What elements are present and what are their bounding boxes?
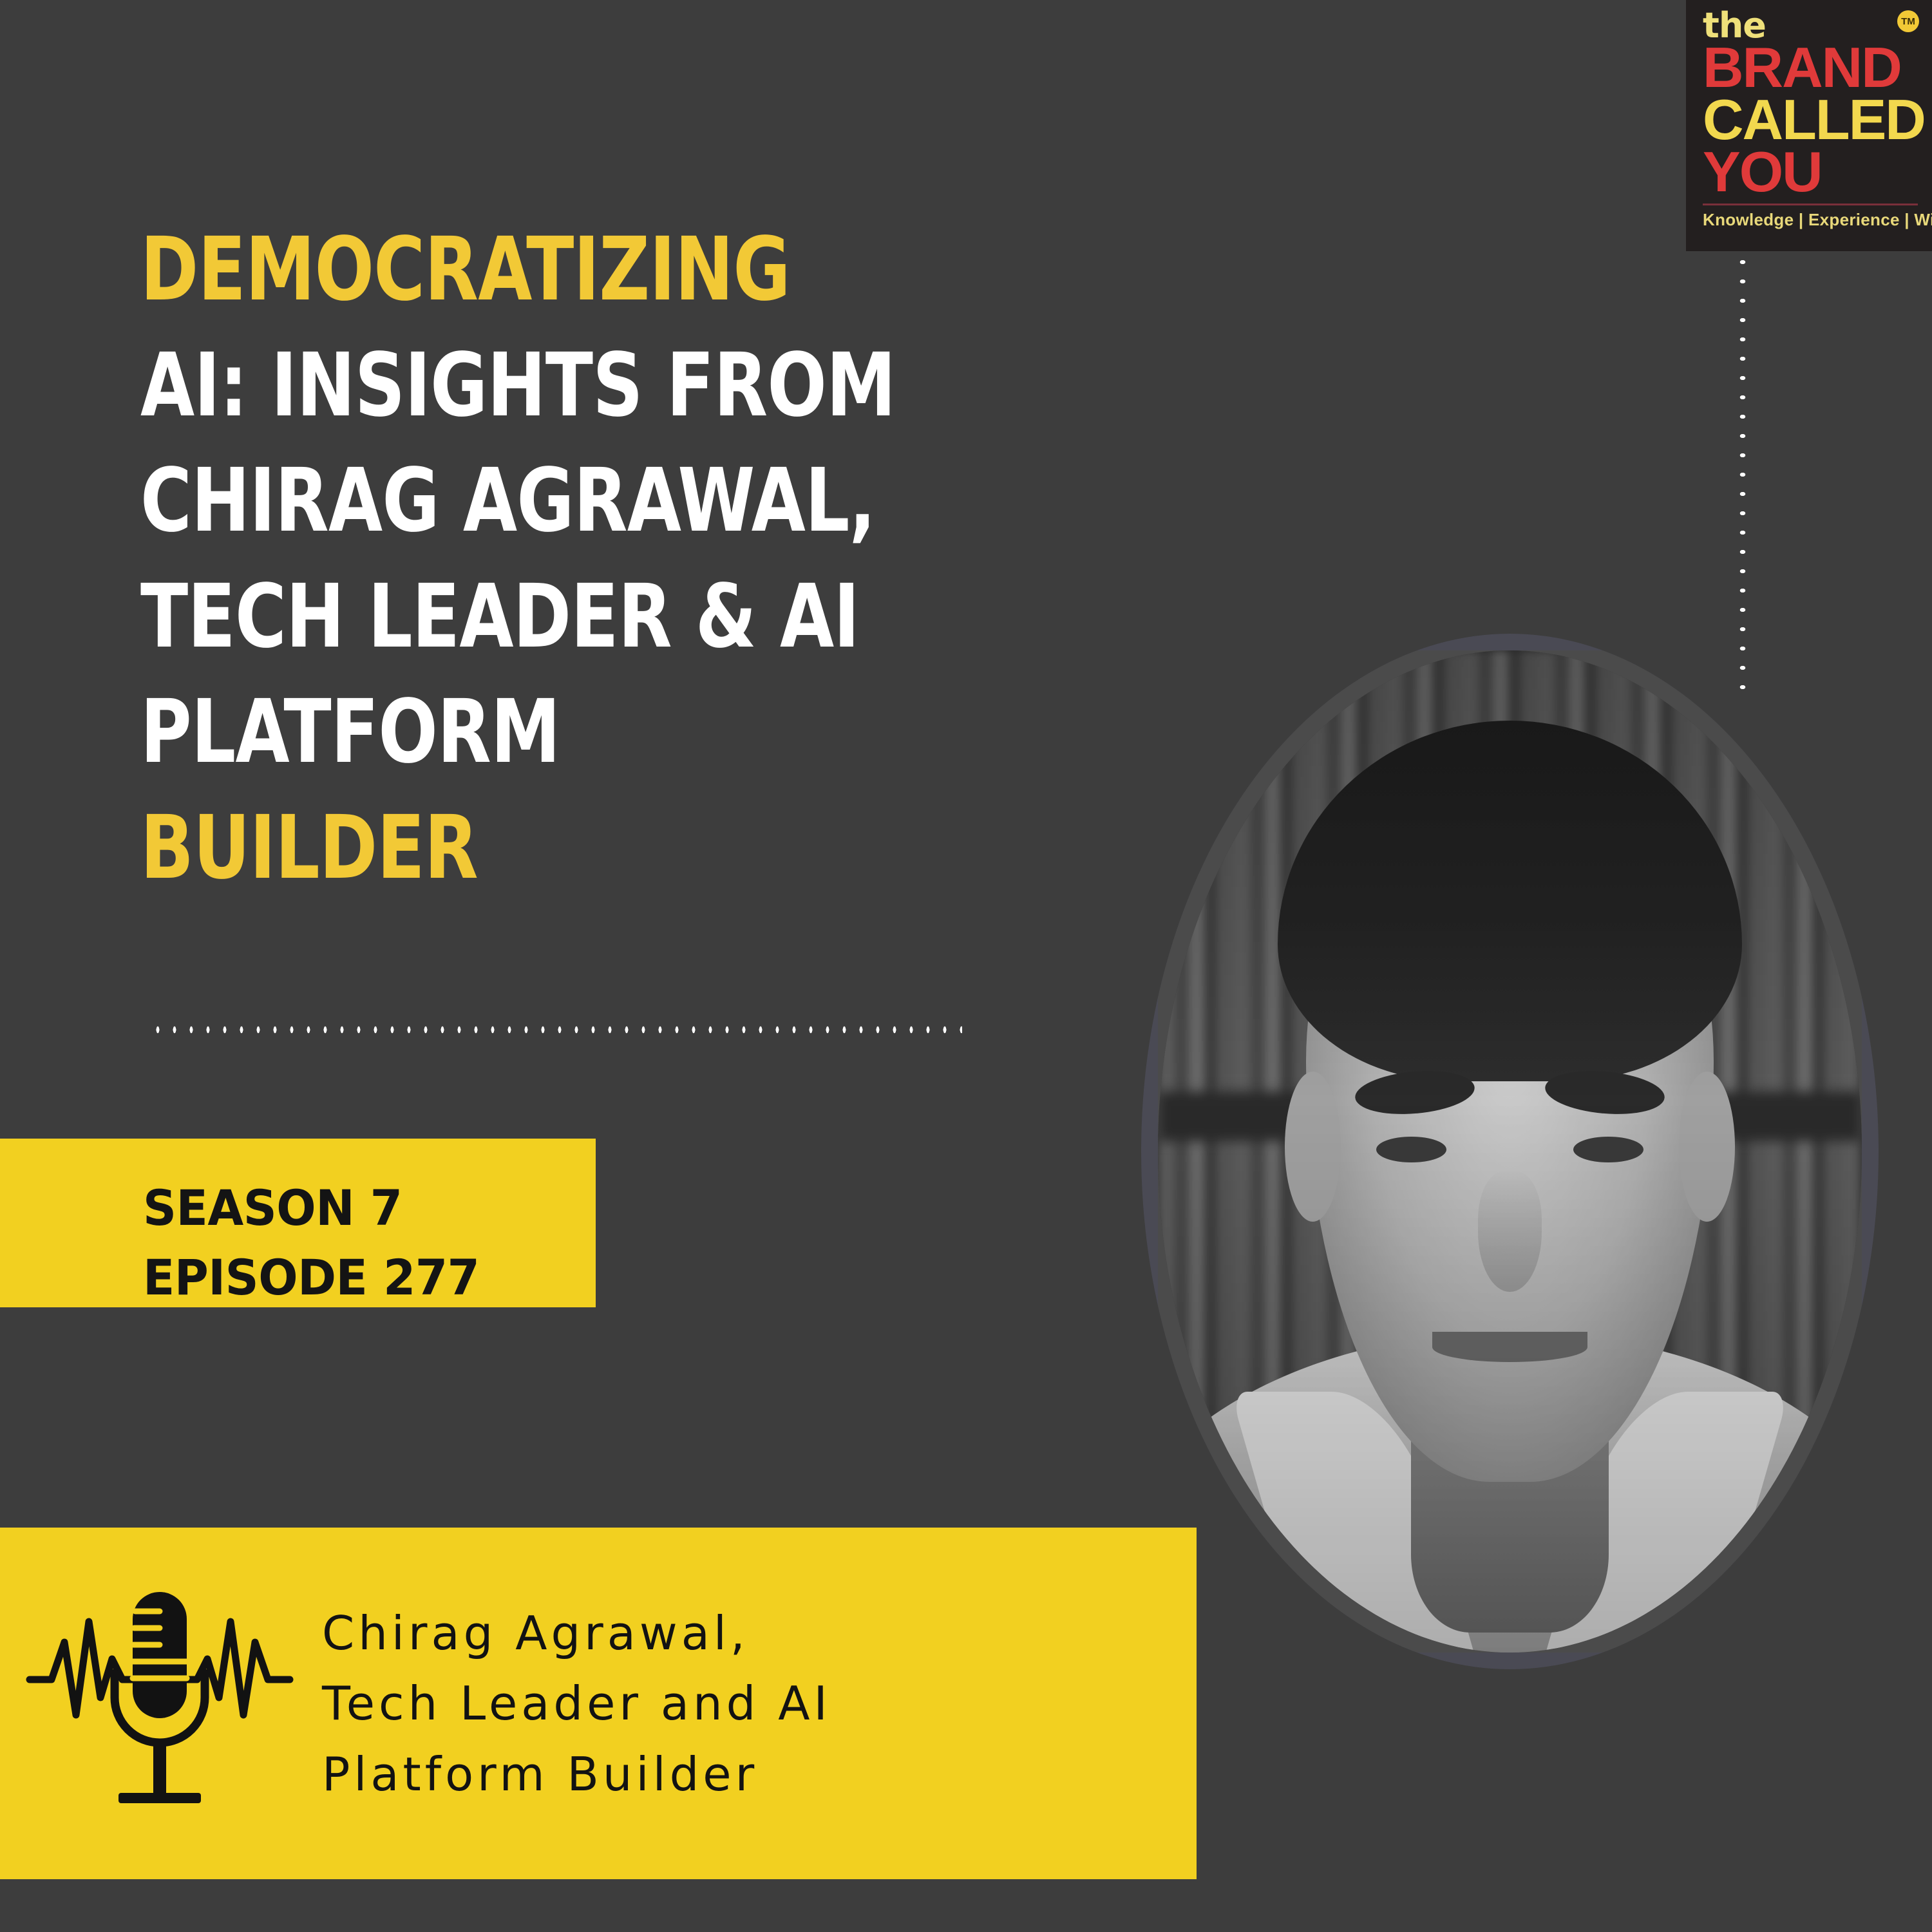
guest-line-3: Platform Builder: [322, 1739, 1159, 1810]
guest-portrait-frame: [1141, 634, 1879, 1669]
brand-logo-rule: [1703, 204, 1918, 205]
season-label: SEASON 7: [143, 1173, 573, 1243]
vertical-dotted-divider: [1738, 252, 1748, 703]
brand-logo: TM the BRAND CALLED YOU Knowledge | Expe…: [1686, 0, 1932, 251]
episode-label: EPISODE 277: [143, 1243, 573, 1312]
guest-name-text: Chirag Agrawal, Tech Leader and AI Platf…: [322, 1598, 1159, 1810]
portrait-grayscale-overlay: [1158, 650, 1862, 1653]
trademark-icon: TM: [1897, 10, 1919, 32]
guest-line-2: Tech Leader and AI: [322, 1669, 1159, 1739]
title-line-2: AI: INSIGHTS FROM: [140, 328, 1047, 444]
podcast-microphone-icon: [24, 1583, 295, 1829]
brand-tagline: Knowledge | Experience | Wisdom: [1703, 210, 1918, 230]
season-episode-badge: SEASON 7 EPISODE 277: [0, 1139, 596, 1307]
title-line-3: CHIRAG AGRAWAL,: [140, 444, 1047, 560]
podcast-cover-art: TM the BRAND CALLED YOU Knowledge | Expe…: [0, 0, 1932, 1932]
title-line-1: DEMOCRATIZING: [140, 213, 1047, 328]
title-line-6: BUILDER: [140, 791, 1047, 907]
guest-name-bar: Chirag Agrawal, Tech Leader and AI Platf…: [0, 1528, 1197, 1879]
brand-logo-brand: BRAND: [1703, 42, 1918, 94]
episode-title: DEMOCRATIZING AI: INSIGHTS FROM CHIRAG A…: [140, 213, 1274, 906]
brand-logo-you: YOU: [1703, 146, 1918, 198]
brand-logo-called: CALLED: [1703, 94, 1918, 146]
title-line-5: PLATFORM: [140, 675, 1047, 791]
guest-line-1: Chirag Agrawal,: [322, 1598, 1159, 1669]
horizontal-dotted-divider: [149, 1021, 962, 1038]
guest-portrait: [1158, 650, 1862, 1653]
title-line-4: TECH LEADER & AI: [140, 560, 1047, 676]
